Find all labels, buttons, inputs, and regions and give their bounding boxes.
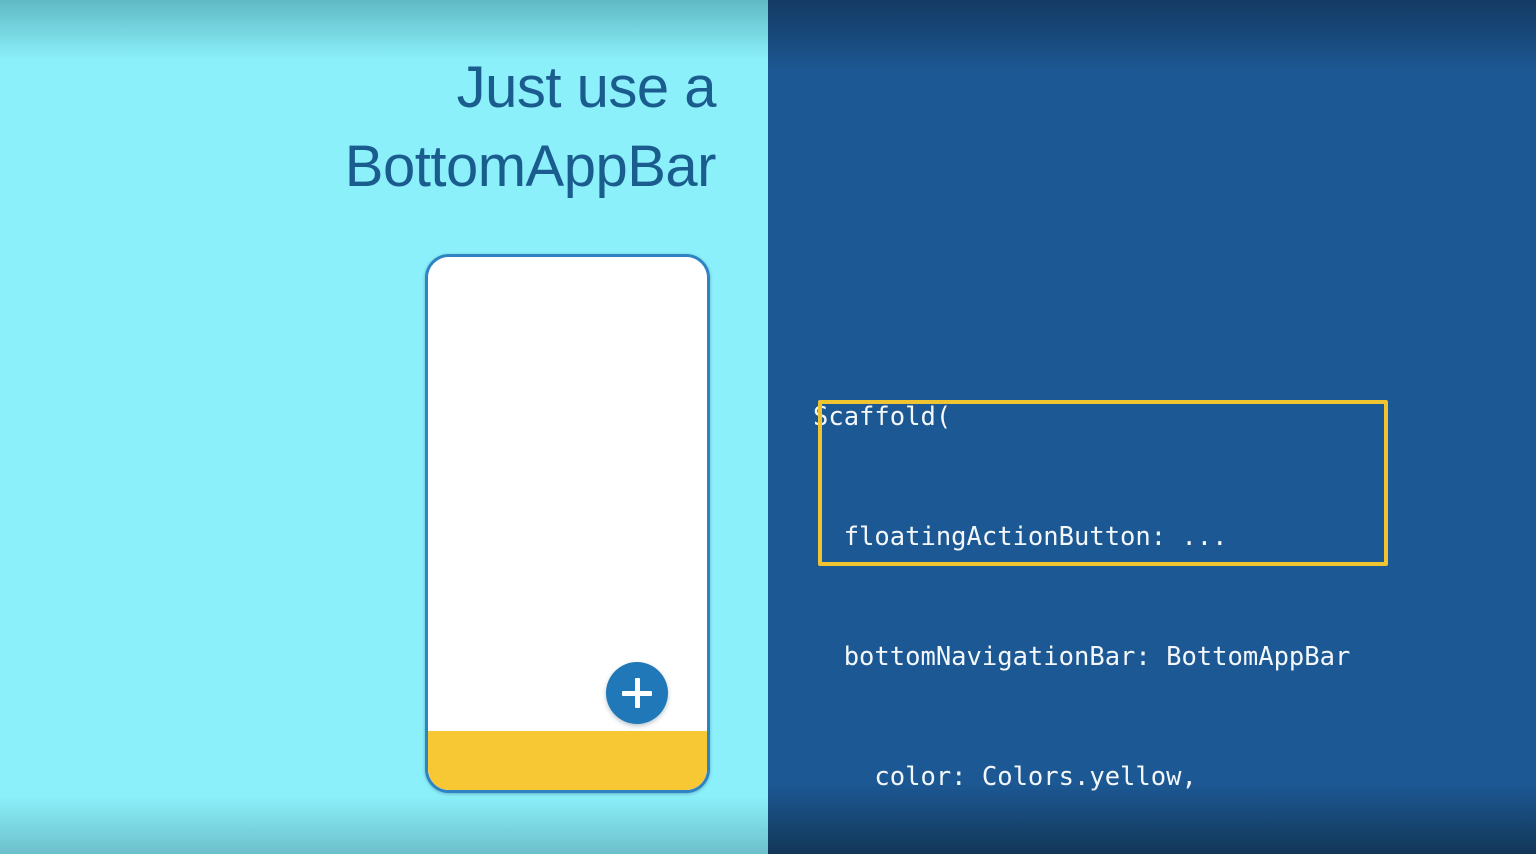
floating-action-button[interactable] xyxy=(606,662,668,724)
phone-screen xyxy=(428,257,707,790)
right-code-panel: Scaffold( floatingActionButton: ... bott… xyxy=(768,0,1536,854)
page-title: Just use a BottomAppBar xyxy=(0,48,716,206)
code-line: Scaffold( xyxy=(813,397,1350,437)
code-line: bottomNavigationBar: BottomAppBar xyxy=(813,637,1350,677)
left-panel-bottom-gradient xyxy=(0,796,768,854)
code-line: color: Colors.yellow, xyxy=(813,757,1350,797)
left-illustration-panel: Just use a BottomAppBar xyxy=(0,0,768,854)
plus-icon-vertical-stroke xyxy=(635,678,640,708)
bottom-app-bar[interactable] xyxy=(428,731,707,790)
right-panel-top-gradient xyxy=(768,0,1536,72)
phone-mockup xyxy=(425,254,710,793)
code-line: floatingActionButton: ... xyxy=(813,517,1350,557)
slide-root: Just use a BottomAppBar Scaffold( floati… xyxy=(0,0,1536,854)
code-snippet: Scaffold( floatingActionButton: ... bott… xyxy=(813,317,1350,854)
